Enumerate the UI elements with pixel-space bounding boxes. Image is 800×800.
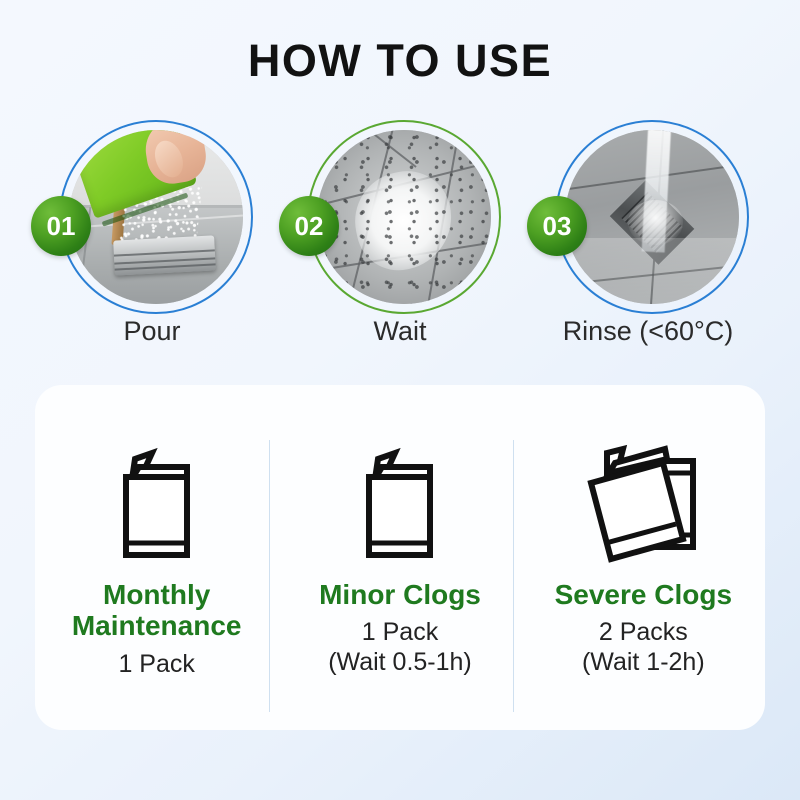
infographic-page: HOW TO USE [0, 0, 800, 800]
step-label: Rinse (<60°C) [524, 316, 772, 347]
column-subtext: 1 Pack [35, 649, 278, 679]
water-rinsing-square-drain-photo [565, 130, 739, 304]
double-sachet-icon [522, 433, 765, 573]
single-sachet-icon [278, 433, 521, 573]
foaming-tile-drain-photo [317, 130, 491, 304]
column-title: Minor Clogs [278, 579, 521, 610]
single-sachet-icon [35, 433, 278, 573]
steps-row: 01 Pour 02 Wait [0, 118, 800, 358]
step-label: Wait [276, 316, 524, 347]
page-title: HOW TO USE [0, 35, 800, 87]
dosage-column-monthly-maintenance: Monthly Maintenance 1 Pack [35, 385, 278, 730]
column-subtext: 1 Pack (Wait 0.5-1h) [278, 617, 521, 677]
column-title: Monthly Maintenance [35, 579, 278, 642]
column-title: Severe Clogs [522, 579, 765, 610]
step-number-badge: 03 [527, 196, 587, 256]
dosage-column-severe-clogs: Severe Clogs 2 Packs (Wait 1-2h) [522, 385, 765, 730]
step-number-badge: 01 [31, 196, 91, 256]
step-label: Pour [28, 316, 276, 347]
dosage-column-minor-clogs: Minor Clogs 1 Pack (Wait 0.5-1h) [278, 385, 521, 730]
pouring-granules-onto-floor-drain-photo [69, 130, 243, 304]
column-subtext: 2 Packs (Wait 1-2h) [522, 617, 765, 677]
dosage-card: Monthly Maintenance 1 Pack Minor Clogs [35, 385, 765, 730]
step-02: 02 Wait [276, 118, 524, 358]
step-03: 03 Rinse (<60°C) [524, 118, 772, 358]
step-01: 01 Pour [28, 118, 276, 358]
step-number-badge: 02 [279, 196, 339, 256]
